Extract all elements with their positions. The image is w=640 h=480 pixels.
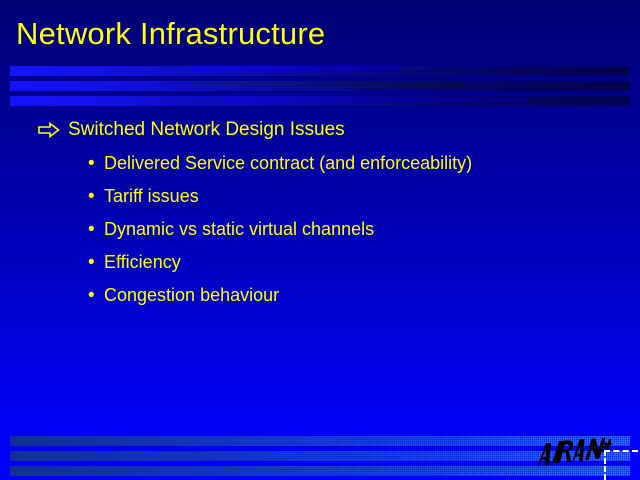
decorative-bar [10, 96, 630, 106]
page-title: Network Infrastructure [16, 16, 325, 52]
bullet-dot-icon: • [88, 284, 104, 308]
list-item: • Tariff issues [0, 184, 640, 209]
list-item: • Efficiency [0, 250, 640, 275]
right-arrow-icon [38, 118, 68, 138]
bullet-dot-icon: • [88, 185, 104, 209]
bullet-dot-icon: • [88, 251, 104, 275]
bullet-heading-label: Switched Network Design Issues [68, 118, 345, 142]
list-item-label: Dynamic vs static virtual channels [104, 217, 374, 241]
decorative-bars-top [10, 66, 630, 106]
list-item: • Congestion behaviour [0, 283, 640, 308]
list-item-label: Tariff issues [104, 184, 199, 208]
decorative-bar [10, 66, 630, 76]
decorative-bar [10, 81, 630, 91]
list-item: • Delivered Service contract (and enforc… [0, 151, 640, 176]
slide-canvas: Network Infrastructure Switched Network … [0, 0, 640, 480]
list-item-label: Delivered Service contract (and enforcea… [104, 151, 472, 175]
page-number-box: ••• [604, 450, 638, 480]
list-item: • Dynamic vs static virtual channels [0, 217, 640, 242]
list-item-label: Efficiency [104, 250, 181, 274]
slide-body: Switched Network Design Issues • Deliver… [0, 118, 640, 316]
bullet-heading: Switched Network Design Issues [0, 118, 640, 142]
bullet-dot-icon: • [88, 152, 104, 176]
page-number-label: ••• [615, 459, 624, 467]
bullet-dot-icon: • [88, 218, 104, 242]
list-item-label: Congestion behaviour [104, 283, 279, 307]
aarnet-logo [534, 430, 612, 468]
